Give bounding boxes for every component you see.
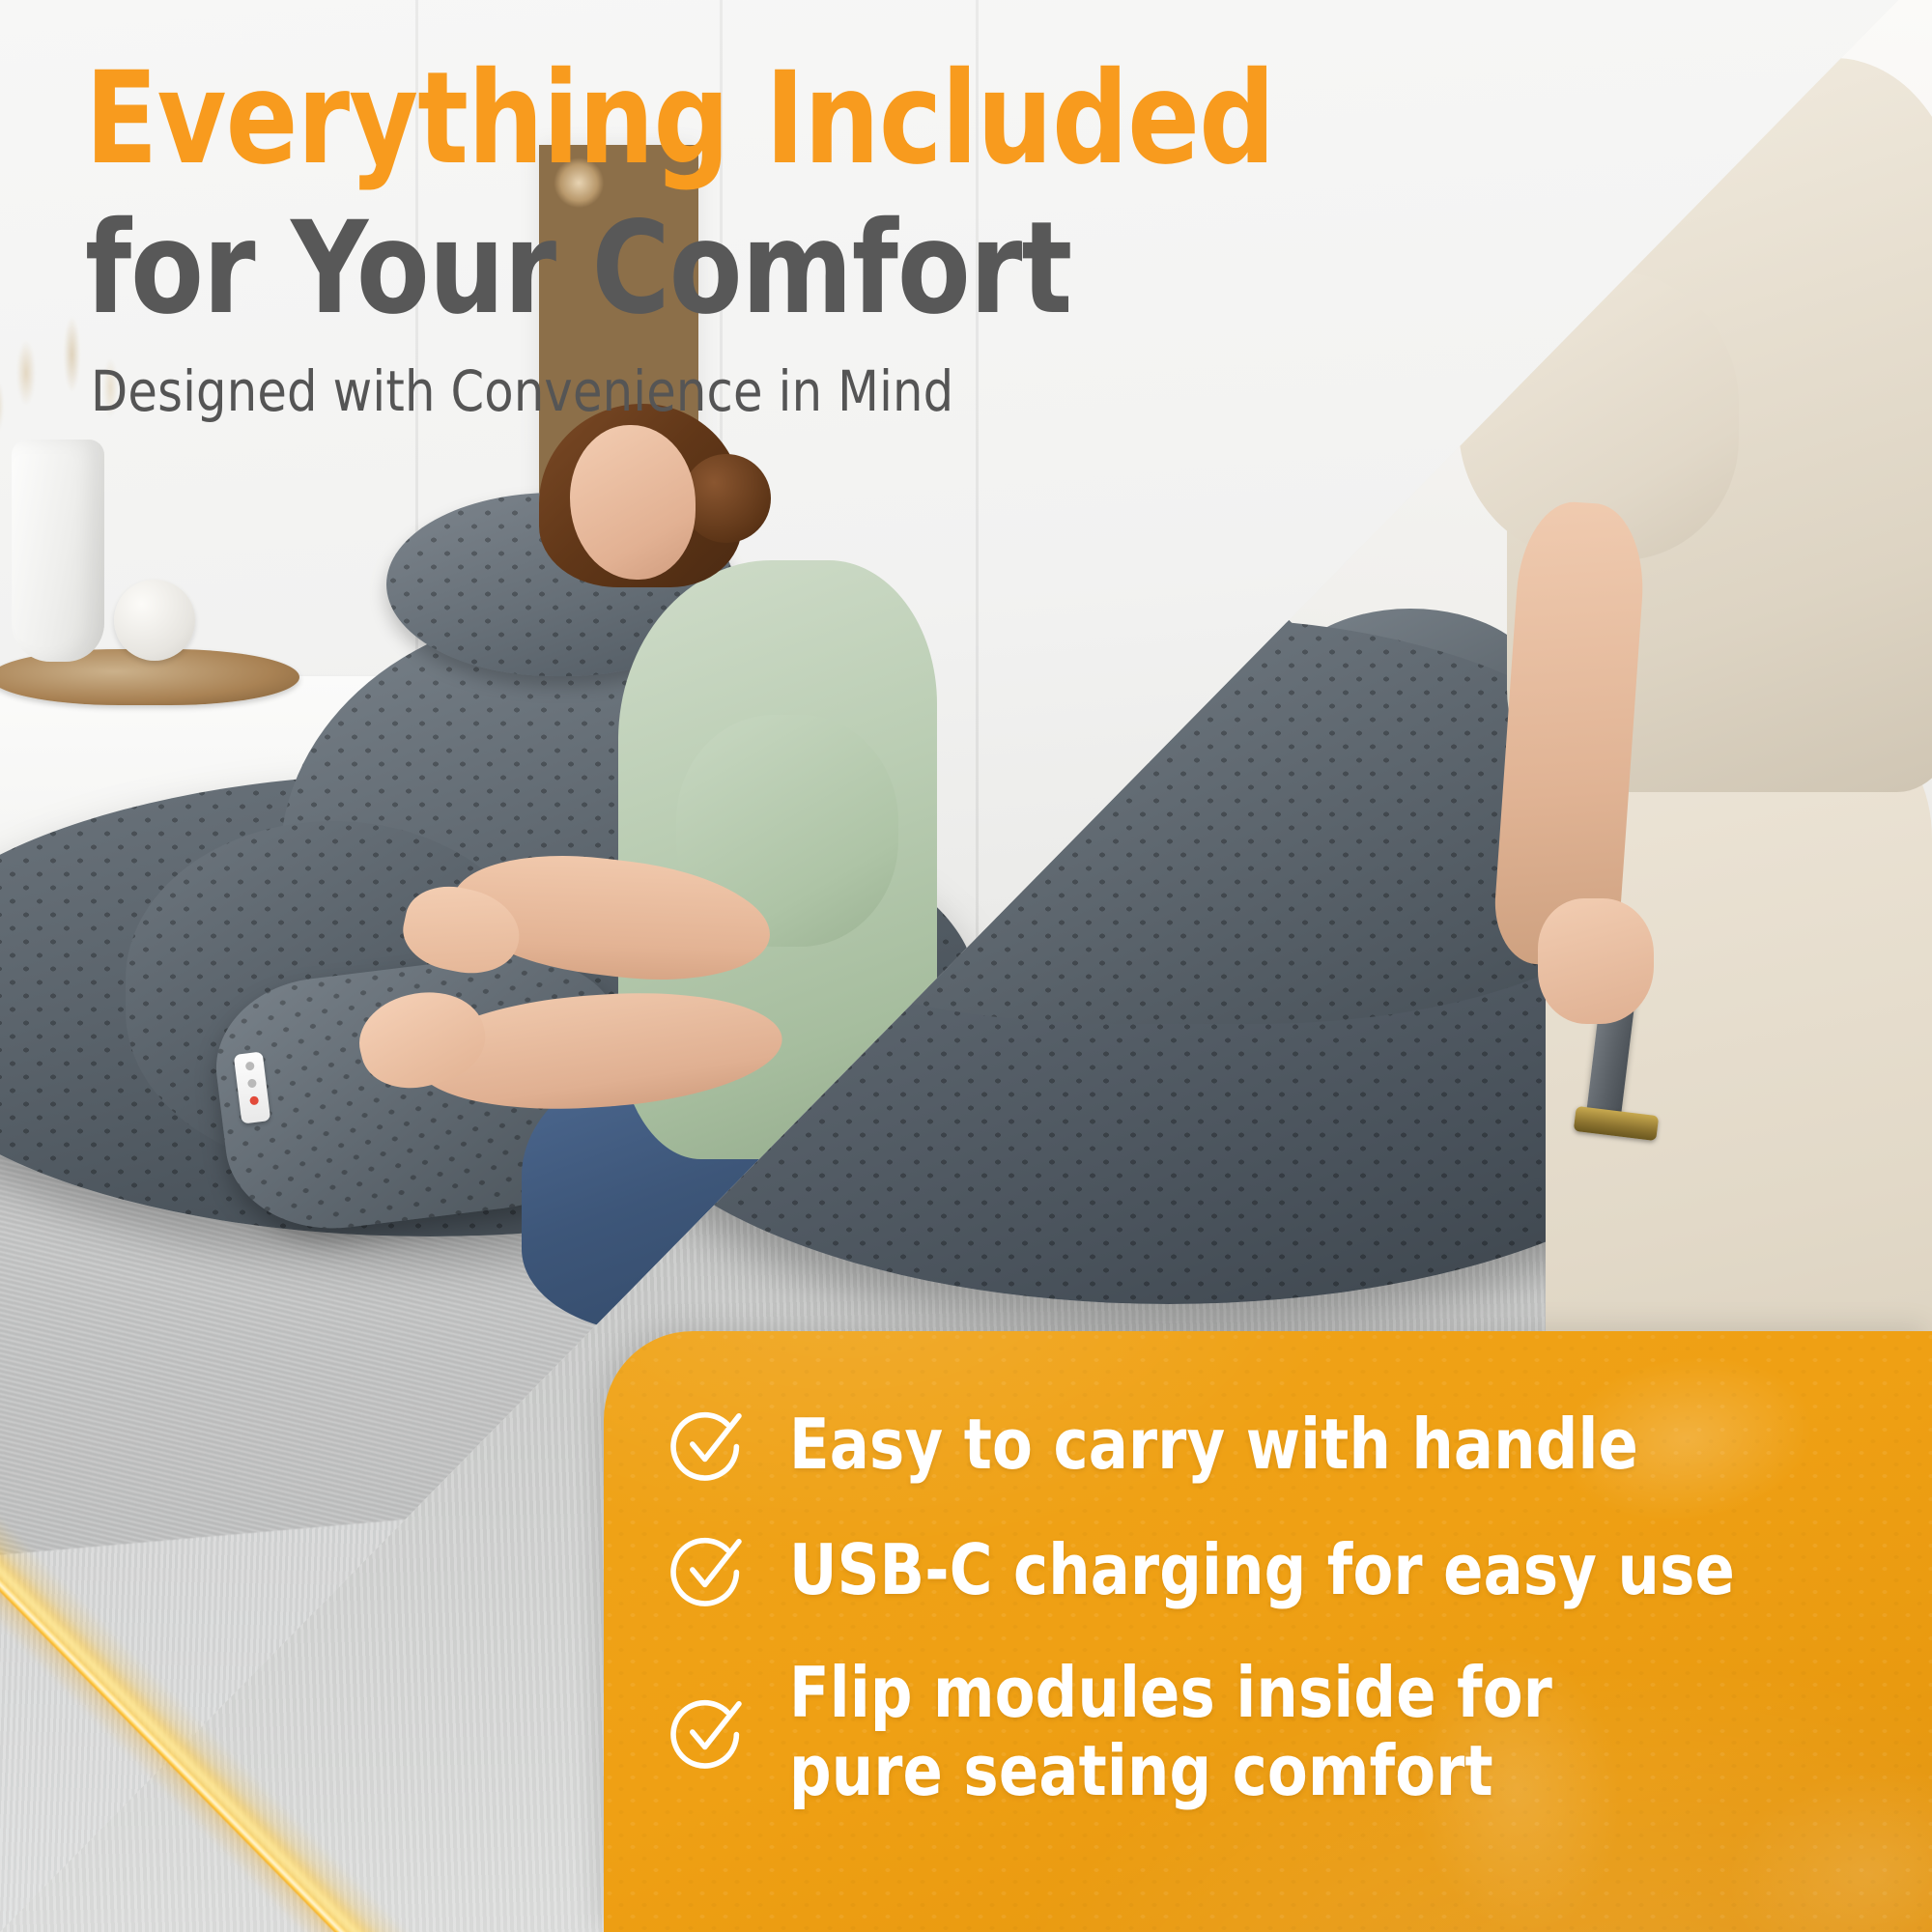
check-circle-icon [668,1403,751,1486]
decorative-ball [114,580,195,661]
feature-item: Flip modules inside for pure seating com… [668,1654,1874,1809]
person-hand-gripping-handle [1538,898,1654,1024]
headline-block: Everything Included for Your Comfort Des… [85,54,1364,424]
check-circle-icon [668,1528,751,1611]
feature-label: Easy to carry with handle [789,1406,1638,1484]
headline-line-2: for Your Comfort [85,204,1274,334]
feature-list: Easy to carry with handle USB-C charging… [604,1331,1932,1809]
white-vase [12,440,104,662]
feature-label: Flip modules inside for pure seating com… [789,1654,1552,1809]
headline-line-1: Everything Included [85,54,1274,185]
feature-item: Easy to carry with handle [668,1403,1874,1486]
headline-subtitle: Designed with Convenience in Mind [91,358,1300,424]
remote-indicator-led [249,1095,259,1105]
infographic-canvas: Everything Included for Your Comfort Des… [0,0,1932,1932]
remote-button-power [244,1062,254,1071]
check-circle-icon [668,1690,751,1774]
feature-item: USB-C charging for easy use [668,1528,1874,1611]
feature-callout-panel: Easy to carry with handle USB-C charging… [604,1331,1932,1932]
remote-button-mode [246,1079,256,1089]
feature-label: USB-C charging for easy use [789,1531,1735,1609]
